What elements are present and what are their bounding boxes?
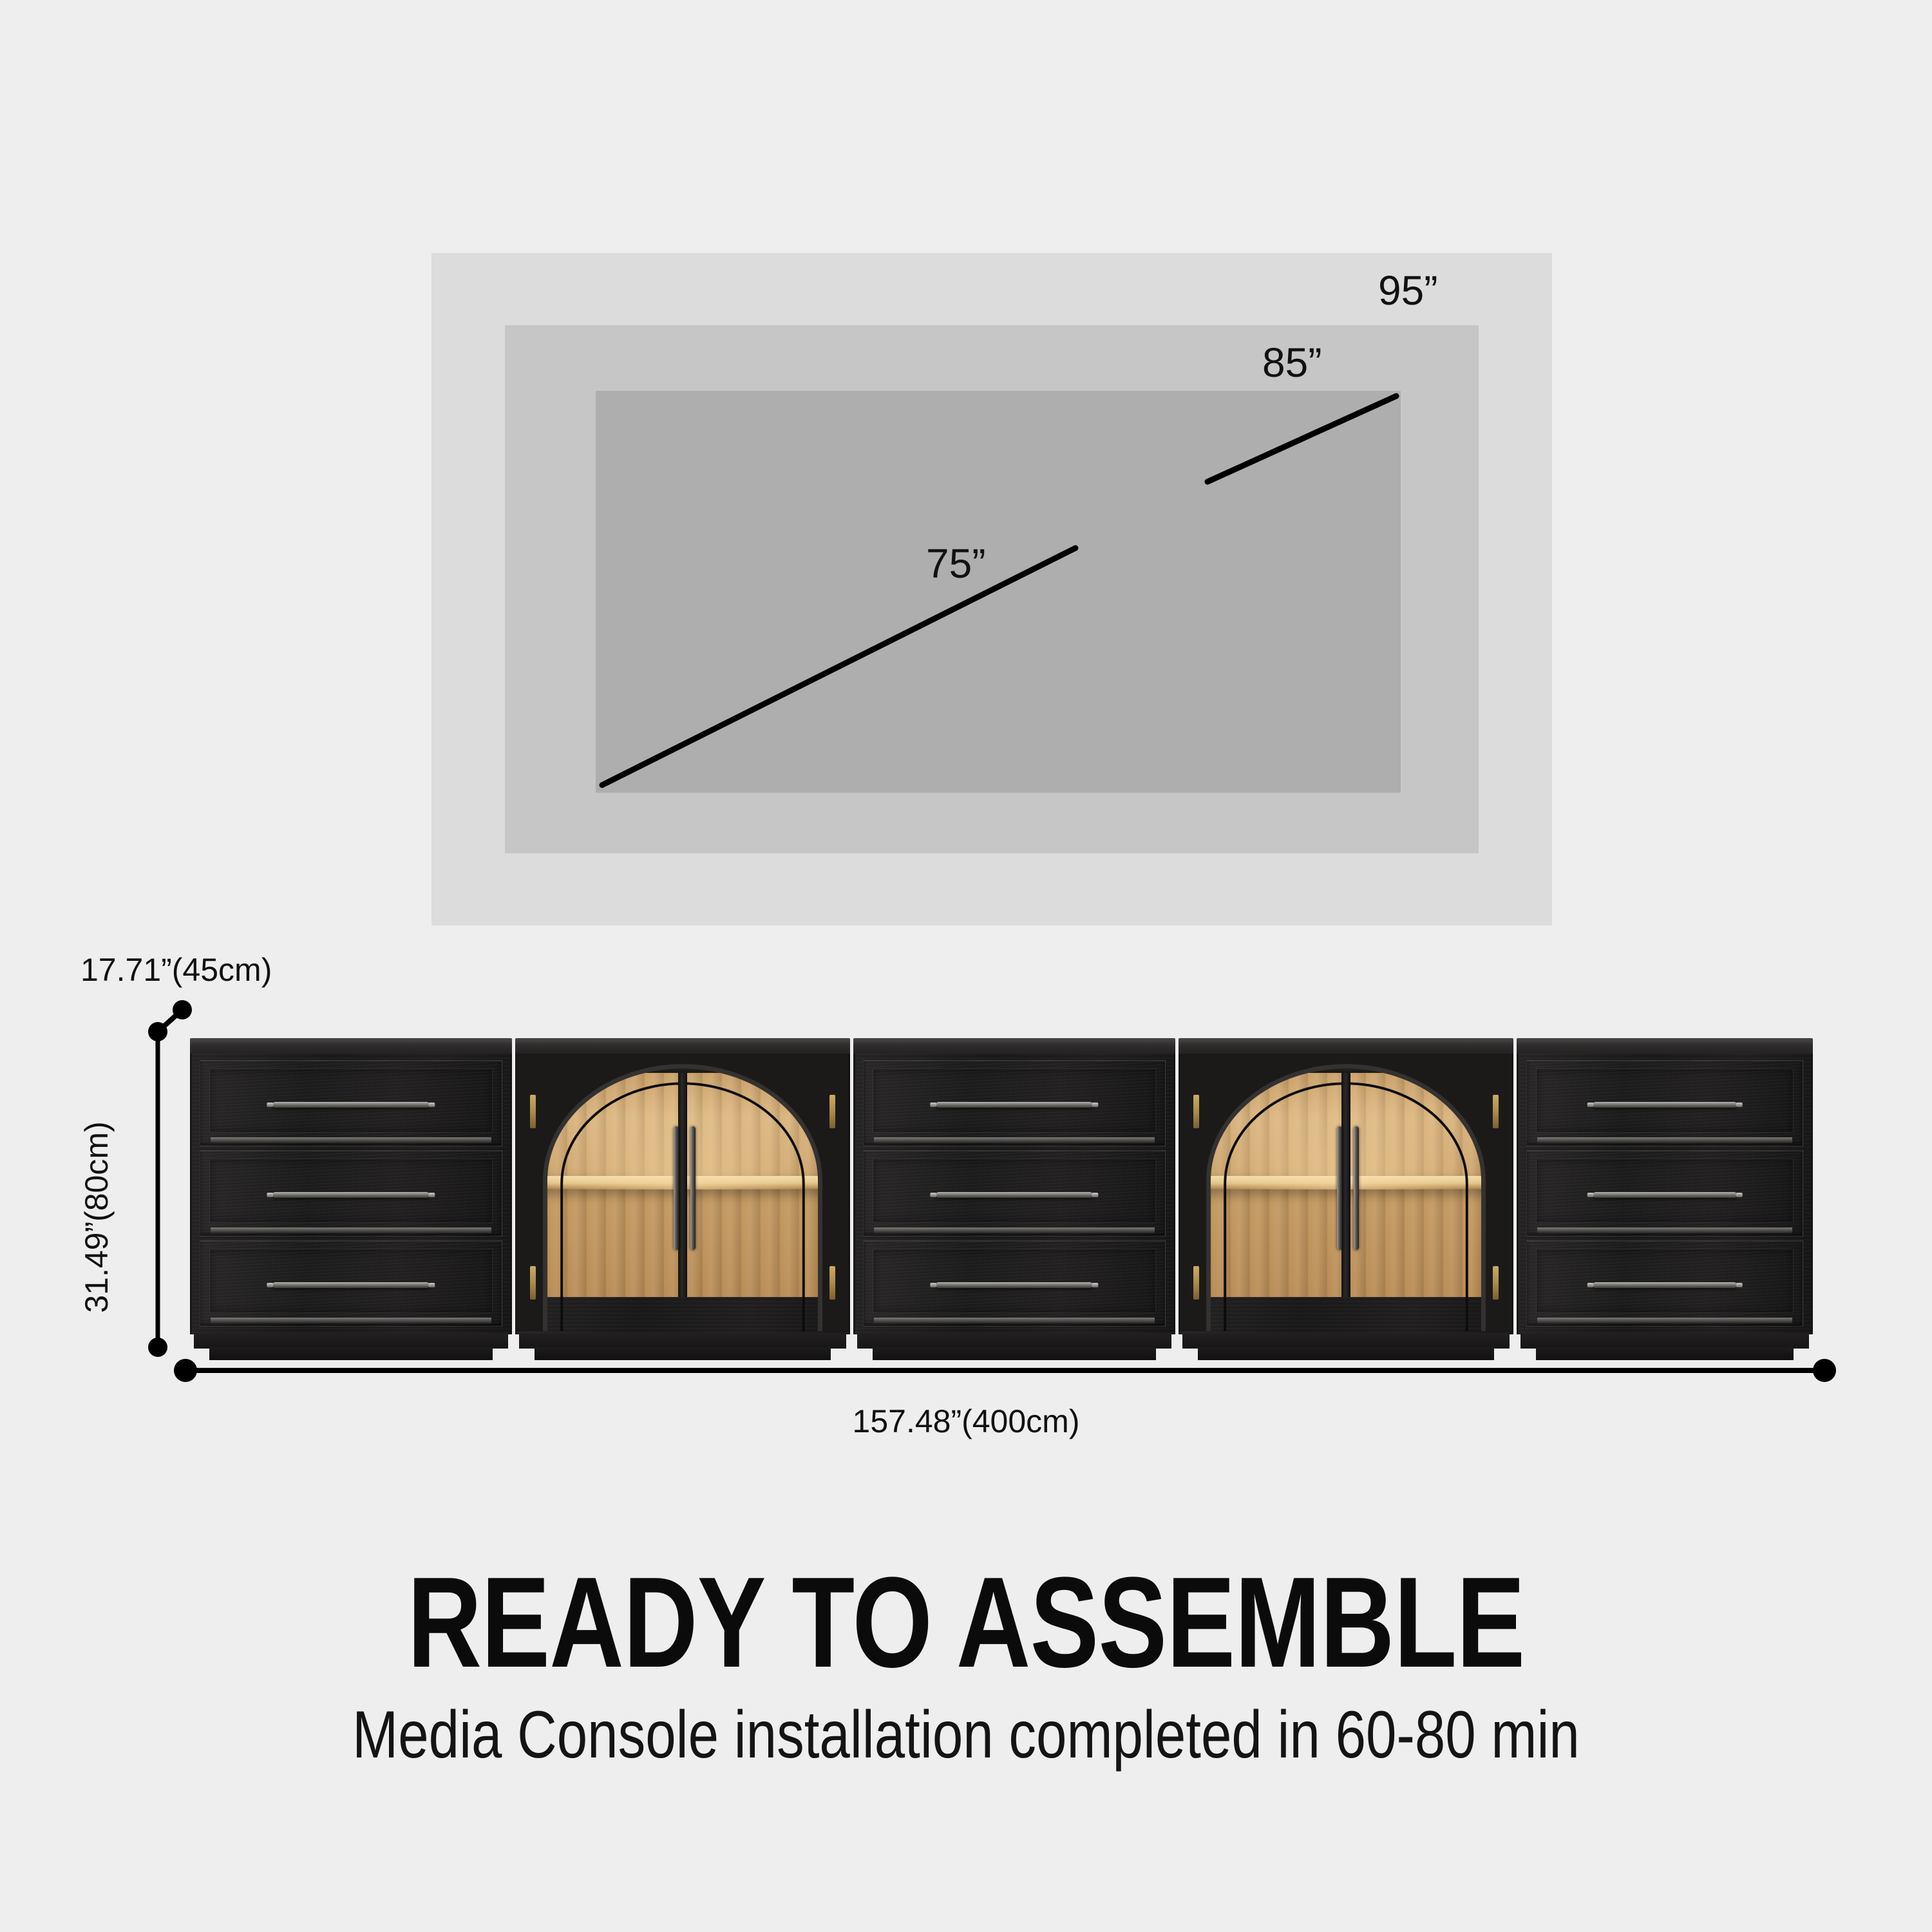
dimension-depth-label: 17.71”(45cm) <box>80 954 272 986</box>
dimension-height-label: 31.49”(80cm) <box>80 1082 113 1352</box>
infographic-canvas: 95” 85” 75” <box>0 0 1932 1932</box>
subheadline: Media Console installation completed in … <box>174 1701 1758 1768</box>
dimension-width-label: 157.48”(400cm) <box>0 1405 1932 1437</box>
headline: READY TO ASSEMBLE <box>193 1558 1739 1687</box>
